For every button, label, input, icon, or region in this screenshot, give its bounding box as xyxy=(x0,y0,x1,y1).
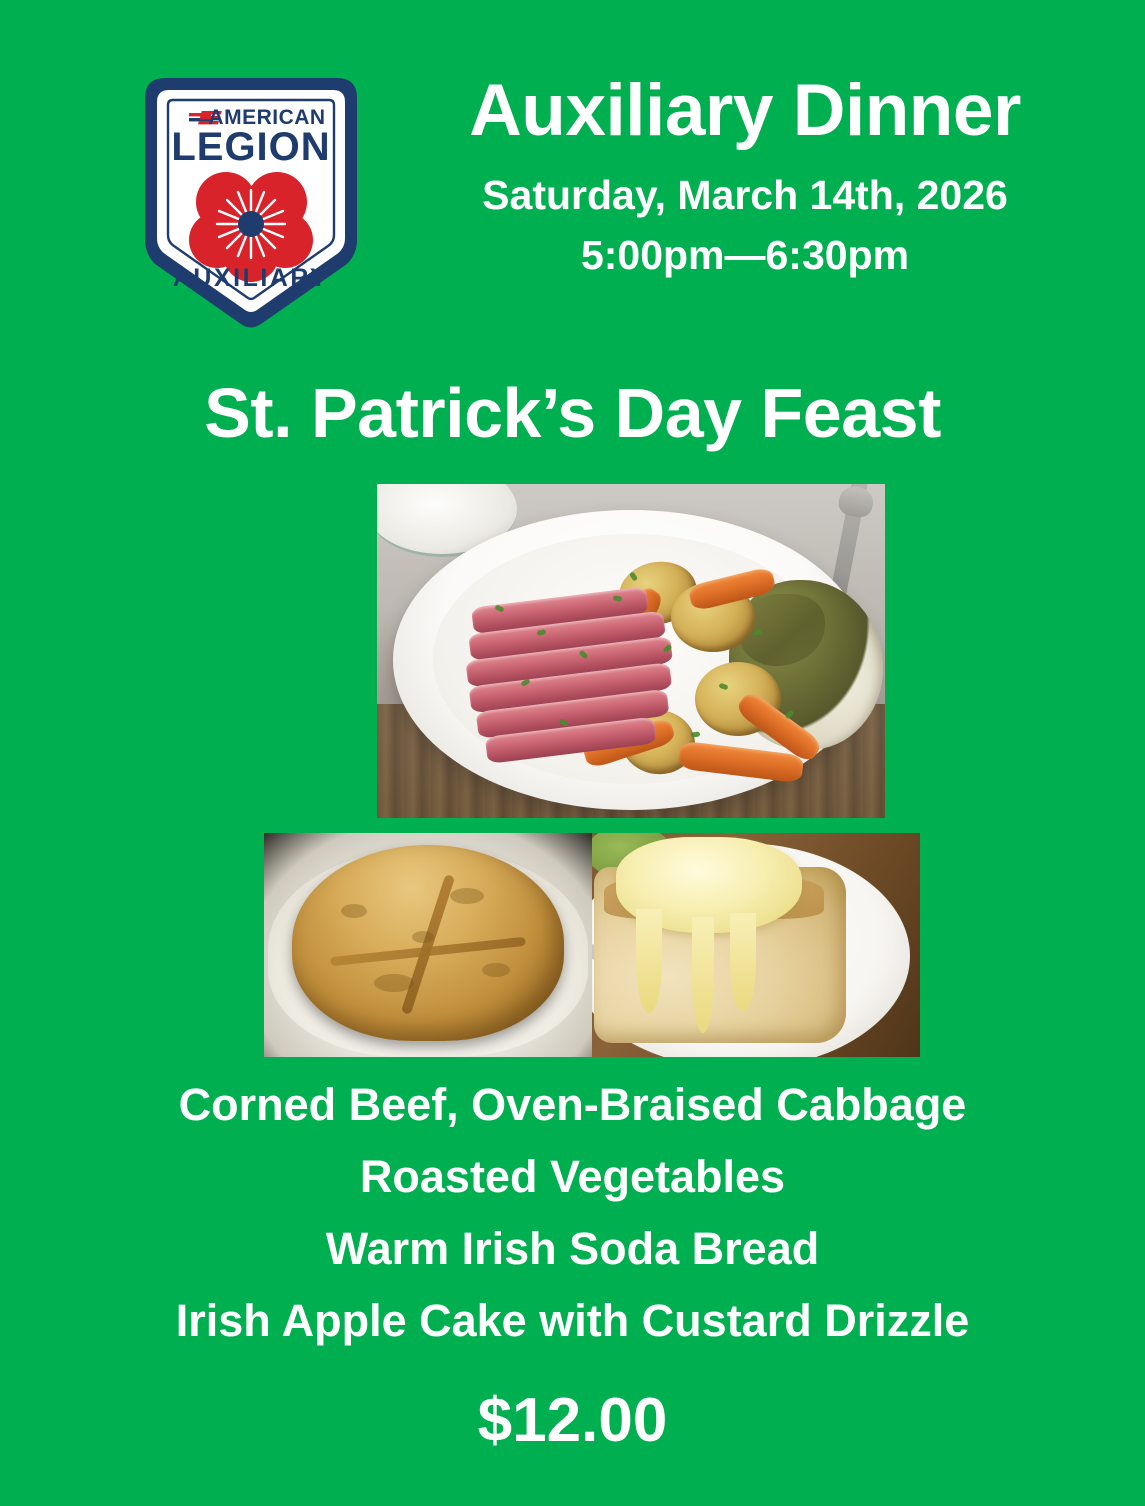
custard-drip xyxy=(730,913,756,1011)
menu-list: Corned Beef, Oven-Braised Cabbage Roaste… xyxy=(0,1082,1145,1370)
custard-drip xyxy=(636,909,662,1013)
event-date: Saturday, March 14th, 2026 xyxy=(395,172,1095,219)
menu-item: Irish Apple Cake with Custard Drizzle xyxy=(0,1298,1145,1343)
price-label: $12.00 xyxy=(0,1390,1145,1452)
american-legion-auxiliary-logo: AMERICAN LEGION xyxy=(127,72,375,334)
irish-soda-bread-photo xyxy=(264,833,592,1057)
flyer-header: AMERICAN LEGION xyxy=(0,0,1145,350)
corned-beef-plate-photo xyxy=(377,484,885,818)
svg-text:AUXILIARY: AUXILIARY xyxy=(173,264,329,292)
dinner-plate xyxy=(393,510,869,810)
event-time: 5:00pm—6:30pm xyxy=(395,232,1095,279)
feast-headline: St. Patrick’s Day Feast xyxy=(0,378,1145,448)
irish-apple-cake-photo xyxy=(592,833,920,1057)
dish-photo-row xyxy=(264,833,920,1057)
menu-item: Roasted Vegetables xyxy=(0,1154,1145,1199)
svg-text:LEGION: LEGION xyxy=(171,125,330,169)
page-title: Auxiliary Dinner xyxy=(395,74,1095,147)
soda-bread-loaf xyxy=(292,845,564,1041)
corned-beef-slices xyxy=(457,584,689,785)
plate-well xyxy=(433,534,829,784)
event-title-block: Auxiliary Dinner Saturday, March 14th, 2… xyxy=(395,74,1095,279)
menu-item: Warm Irish Soda Bread xyxy=(0,1226,1145,1271)
menu-item: Corned Beef, Oven-Braised Cabbage xyxy=(0,1082,1145,1127)
custard-drip xyxy=(692,917,714,1033)
